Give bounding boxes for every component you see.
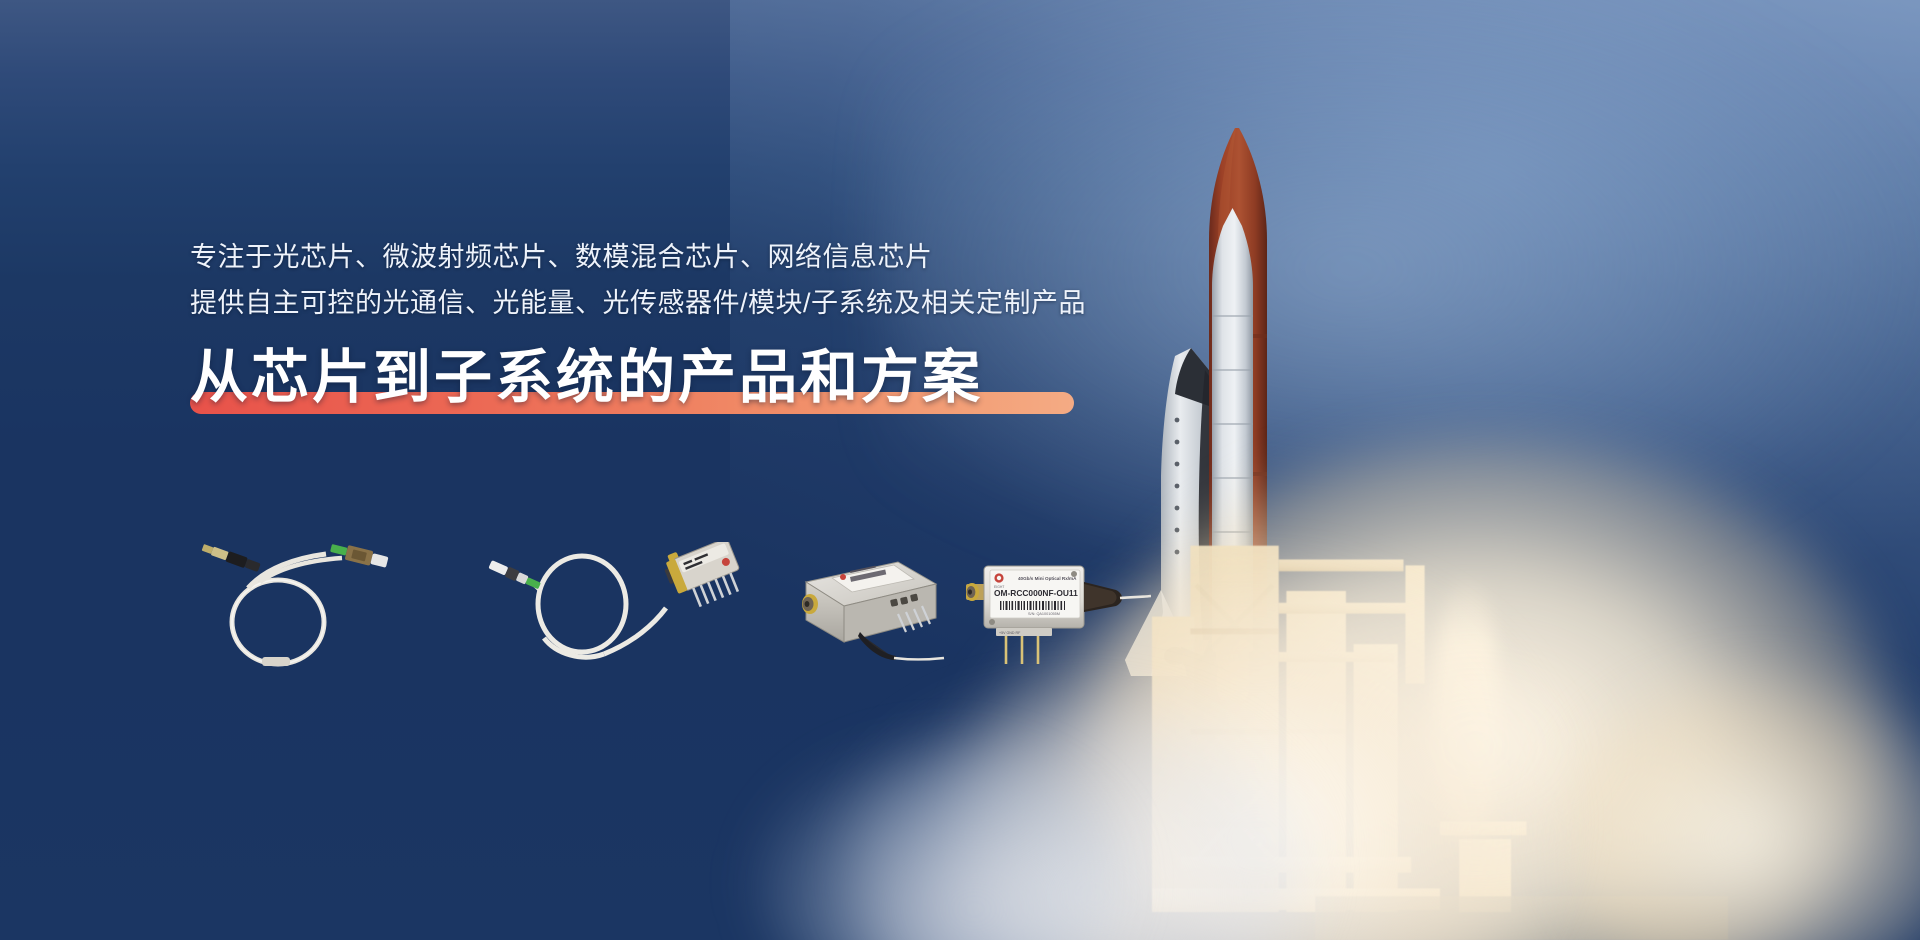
banner-headline-wrap: 从芯片到子系统的产品和方案: [190, 342, 1170, 420]
receiver-pin-labels: +5V GND RF: [999, 631, 1021, 635]
product-pigtailed-laser: [486, 542, 756, 680]
product-rf-optical-module: [786, 546, 946, 666]
receiver-label-top: 40Gb/s Mini Optical Rx/mA: [1018, 576, 1077, 581]
product-mini-optical-receiver: EIGHT 40Gb/s Mini Optical Rx/mA OM-RCC00…: [966, 540, 1151, 670]
banner-subtitle-line-2: 提供自主可控的光通信、光能量、光传感器件/模块/子系统及相关定制产品: [190, 280, 1170, 326]
banner-copy: 专注于光芯片、微波射频芯片、数模混合芯片、网络信息芯片 提供自主可控的光通信、光…: [190, 234, 1170, 420]
receiver-serial-number: S/N: QA1001055M: [1028, 612, 1060, 616]
product-fiber-patchcord: [186, 526, 446, 676]
product-strip: EIGHT 40Gb/s Mini Optical Rx/mA OM-RCC00…: [186, 520, 1096, 680]
hero-banner: 专注于光芯片、微波射频芯片、数模混合芯片、网络信息芯片 提供自主可控的光通信、光…: [0, 0, 1920, 940]
banner-headline: 从芯片到子系统的产品和方案: [190, 342, 1170, 414]
receiver-part-number: OM-RCC000NF-OU11: [994, 588, 1078, 598]
banner-subtitle-line-1: 专注于光芯片、微波射频芯片、数模混合芯片、网络信息芯片: [190, 234, 1170, 280]
